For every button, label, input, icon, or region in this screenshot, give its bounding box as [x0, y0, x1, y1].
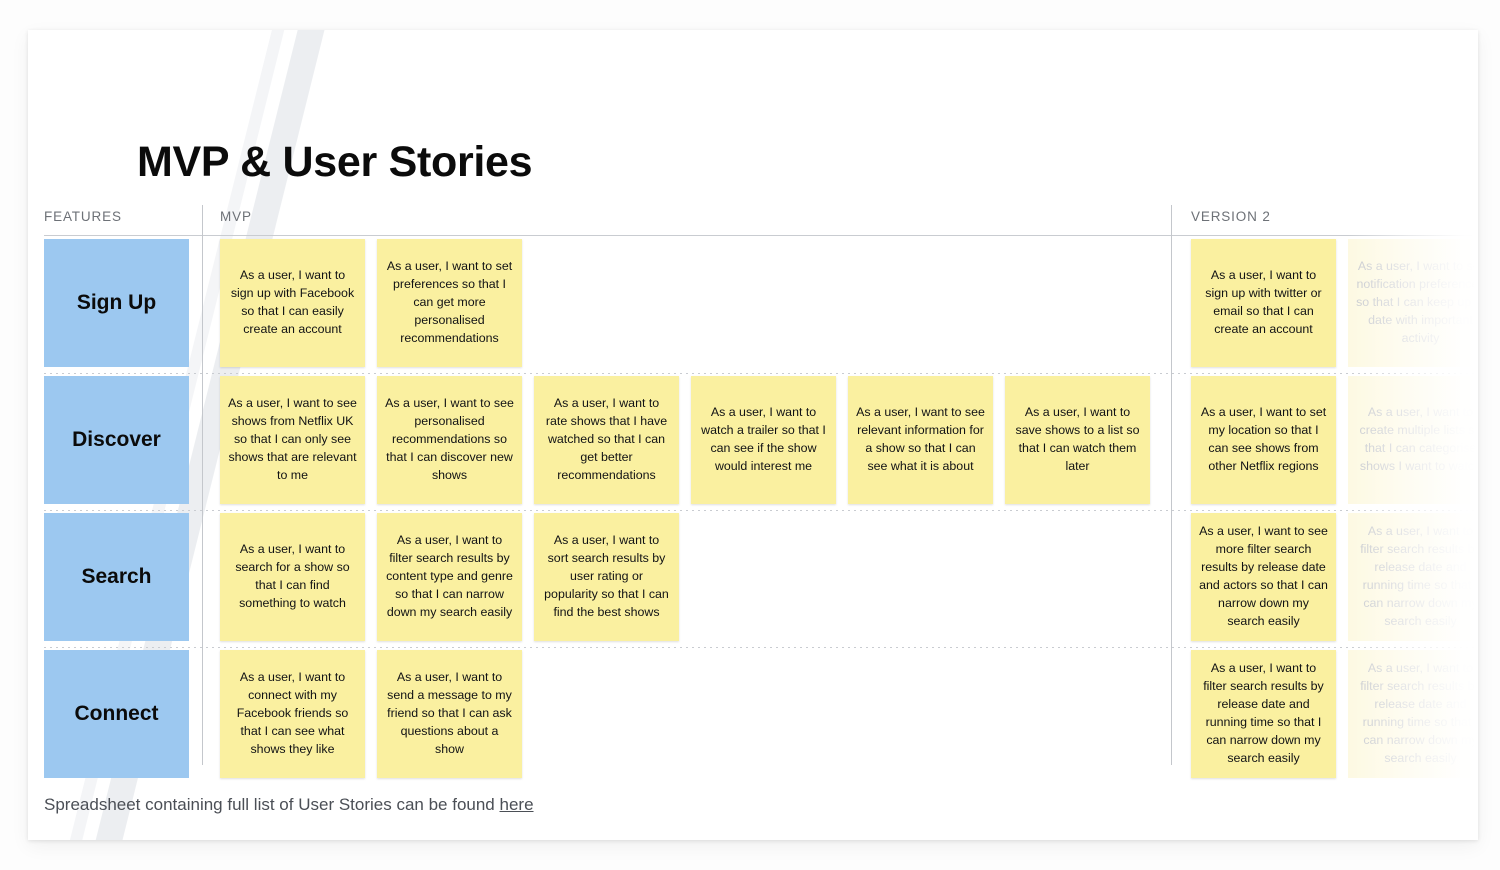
- version2-notes-group: As a user, I want to set my location so …: [1191, 376, 1478, 504]
- mvp-notes-group: As a user, I want to see shows from Netf…: [220, 376, 1160, 504]
- slide-root: MVP & User Stories FEATURES MVP VERSION …: [0, 0, 1500, 870]
- sticky-note-text: As a user, I want to connect with my Fac…: [228, 669, 357, 759]
- slide-card: MVP & User Stories FEATURES MVP VERSION …: [28, 30, 1478, 840]
- sticky-note[interactable]: As a user, I want to send a message to m…: [377, 650, 522, 778]
- sticky-note[interactable]: As a user, I want to watch a trailer so …: [691, 376, 836, 504]
- footnote: Spreadsheet containing full list of User…: [44, 795, 534, 815]
- sticky-note-text: As a user, I want to sign up with Facebo…: [228, 267, 357, 339]
- sticky-note-text: As a user, I want to see more filter sea…: [1199, 523, 1328, 631]
- sticky-note[interactable]: As a user, I want to see personalised re…: [377, 376, 522, 504]
- sticky-note-text: As a user, I want to search for a show s…: [228, 541, 357, 613]
- sticky-note-faded[interactable]: As a user, I want to filter search resul…: [1348, 513, 1478, 641]
- sticky-note[interactable]: As a user, I want to set my location so …: [1191, 376, 1336, 504]
- footnote-text: Spreadsheet containing full list of User…: [44, 795, 500, 814]
- header-divider: [44, 235, 1472, 236]
- column-header-features: FEATURES: [44, 209, 122, 224]
- sticky-note[interactable]: As a user, I want to see relevant inform…: [848, 376, 993, 504]
- story-matrix: FEATURES MVP VERSION 2 Sign UpAs a user,…: [28, 205, 1478, 765]
- column-header-version2: VERSION 2: [1191, 209, 1271, 224]
- sticky-note[interactable]: As a user, I want to rate shows that I h…: [534, 376, 679, 504]
- sticky-note-text: As a user, I want to set notification pr…: [1356, 258, 1478, 348]
- sticky-note-text: As a user, I want to rate shows that I h…: [542, 395, 671, 485]
- feature-label: Sign Up: [77, 291, 156, 315]
- sticky-note-text: As a user, I want to sort search results…: [542, 532, 671, 622]
- sticky-note[interactable]: As a user, I want to filter search resul…: [1191, 650, 1336, 778]
- feature-label: Search: [81, 565, 151, 589]
- version2-notes-group: As a user, I want to sign up with twitte…: [1191, 239, 1478, 367]
- feature-block-discover[interactable]: Discover: [44, 376, 189, 504]
- feature-label: Discover: [72, 428, 161, 452]
- version2-notes-group: As a user, I want to see more filter sea…: [1191, 513, 1478, 641]
- mvp-notes-group: As a user, I want to search for a show s…: [220, 513, 1160, 641]
- sticky-note-text: As a user, I want to filter search resul…: [1199, 660, 1328, 768]
- sticky-note-text: As a user, I want to set my location so …: [1199, 404, 1328, 476]
- feature-block-connect[interactable]: Connect: [44, 650, 189, 778]
- sticky-note-text: As a user, I want to sign up with twitte…: [1199, 267, 1328, 339]
- sticky-note[interactable]: As a user, I want to sign up with twitte…: [1191, 239, 1336, 367]
- footnote-here-link[interactable]: here: [500, 795, 534, 814]
- column-header-mvp: MVP: [220, 209, 252, 224]
- sticky-note[interactable]: As a user, I want to sort search results…: [534, 513, 679, 641]
- sticky-note-faded[interactable]: As a user, I want to filter search resul…: [1348, 650, 1478, 778]
- feature-block-sign-up[interactable]: Sign Up: [44, 239, 189, 367]
- sticky-note[interactable]: As a user, I want to set preferences so …: [377, 239, 522, 367]
- sticky-note-text: As a user, I want to see shows from Netf…: [228, 395, 357, 485]
- sticky-note-text: As a user, I want to create multiple lis…: [1356, 404, 1478, 476]
- sticky-note[interactable]: As a user, I want to connect with my Fac…: [220, 650, 365, 778]
- sticky-note[interactable]: As a user, I want to search for a show s…: [220, 513, 365, 641]
- slide-content: MVP & User Stories FEATURES MVP VERSION …: [28, 30, 1478, 840]
- sticky-note[interactable]: As a user, I want to save shows to a lis…: [1005, 376, 1150, 504]
- feature-label: Connect: [75, 702, 159, 726]
- sticky-note[interactable]: As a user, I want to sign up with Facebo…: [220, 239, 365, 367]
- column-header-row: FEATURES MVP VERSION 2: [28, 205, 1478, 237]
- sticky-note-faded[interactable]: As a user, I want to set notification pr…: [1348, 239, 1478, 367]
- sticky-note-text: As a user, I want to send a message to m…: [385, 669, 514, 759]
- version2-notes-group: As a user, I want to filter search resul…: [1191, 650, 1478, 778]
- sticky-note-text: As a user, I want to watch a trailer so …: [699, 404, 828, 476]
- sticky-note-text: As a user, I want to filter search resul…: [1356, 660, 1478, 768]
- matrix-row: ConnectAs a user, I want to connect with…: [28, 648, 1478, 785]
- sticky-note-faded[interactable]: As a user, I want to create multiple lis…: [1348, 376, 1478, 504]
- sticky-note[interactable]: As a user, I want to see shows from Netf…: [220, 376, 365, 504]
- sticky-note-text: As a user, I want to save shows to a lis…: [1013, 404, 1142, 476]
- sticky-note[interactable]: As a user, I want to see more filter sea…: [1191, 513, 1336, 641]
- sticky-note-text: As a user, I want to filter search resul…: [385, 532, 514, 622]
- matrix-row: Sign UpAs a user, I want to sign up with…: [28, 237, 1478, 374]
- mvp-notes-group: As a user, I want to sign up with Facebo…: [220, 239, 1160, 367]
- sticky-note-text: As a user, I want to see personalised re…: [385, 395, 514, 485]
- page-title: MVP & User Stories: [137, 138, 532, 187]
- sticky-note[interactable]: As a user, I want to filter search resul…: [377, 513, 522, 641]
- sticky-note-text: As a user, I want to see relevant inform…: [856, 404, 985, 476]
- matrix-rows: Sign UpAs a user, I want to sign up with…: [28, 237, 1478, 785]
- sticky-note-text: As a user, I want to filter search resul…: [1356, 523, 1478, 631]
- matrix-row: DiscoverAs a user, I want to see shows f…: [28, 374, 1478, 511]
- matrix-row: SearchAs a user, I want to search for a …: [28, 511, 1478, 648]
- feature-block-search[interactable]: Search: [44, 513, 189, 641]
- sticky-note-text: As a user, I want to set preferences so …: [385, 258, 514, 348]
- mvp-notes-group: As a user, I want to connect with my Fac…: [220, 650, 1160, 778]
